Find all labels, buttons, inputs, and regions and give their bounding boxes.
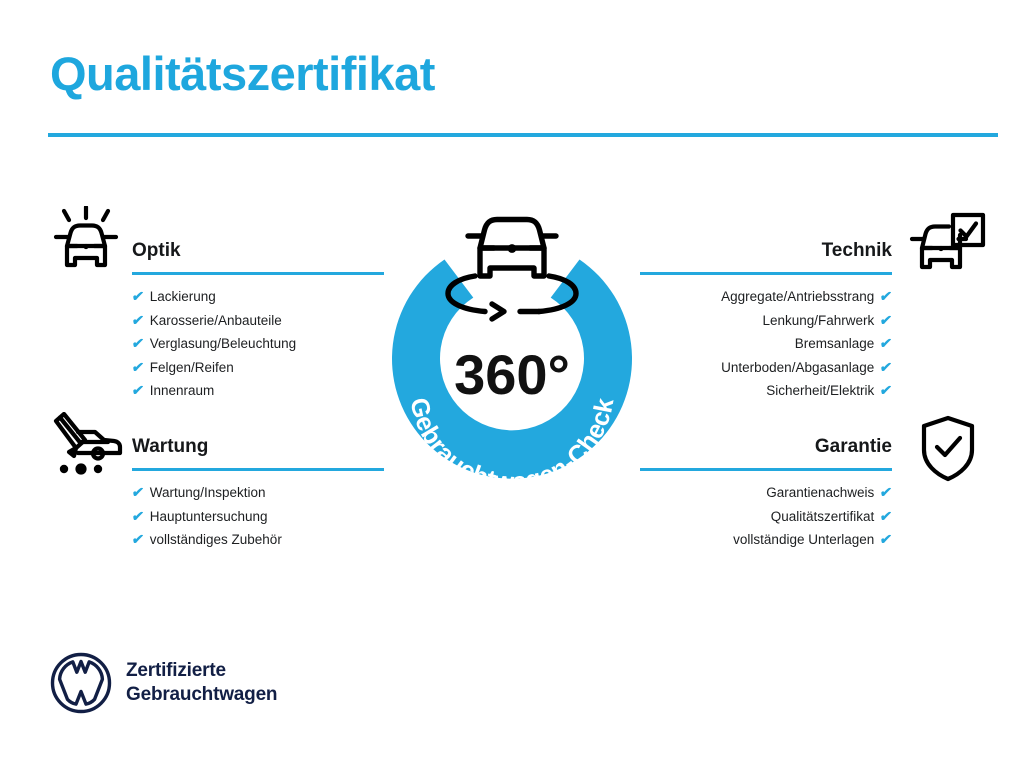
vw-certified-used-cars-lockup: Zertifizierte Gebrauchtwagen	[50, 648, 277, 718]
section-title-optik: Optik	[132, 236, 384, 266]
certificate-page: Qualitätszertifikat	[0, 0, 1024, 768]
page-title: Qualitätszertifikat	[50, 48, 435, 100]
checklist-item: vollständige Unterlagen✔	[640, 528, 892, 552]
checklist-item-label: Unterboden/Abgasanlage	[721, 356, 874, 380]
checklist-garantie: Garantienachweis✔Qualitätszertifikat✔vol…	[640, 474, 892, 552]
check-icon: ✔	[130, 285, 145, 309]
check-icon: ✔	[879, 309, 894, 333]
section-divider-optik	[132, 272, 384, 275]
360-gebrauchtwagen-check-badge: Gebrauchtwagen-Check 360°	[372, 192, 652, 504]
section-wartung: Wartung✔Wartung/Inspektion✔Hauptuntersuc…	[132, 432, 384, 552]
section-divider-technik	[640, 272, 892, 275]
checklist-item-label: vollständige Unterlagen	[733, 528, 874, 552]
checklist-item-label: Verglasung/Beleuchtung	[150, 332, 296, 356]
checklist-item-label: vollständiges Zubehör	[150, 528, 282, 552]
check-icon: ✔	[879, 505, 894, 529]
check-icon: ✔	[130, 379, 145, 403]
lockup-line-1: Zertifizierte	[126, 659, 277, 683]
checklist-item: ✔Innenraum	[132, 379, 384, 403]
check-icon: ✔	[879, 356, 894, 380]
checklist-item-label: Hauptuntersuchung	[150, 505, 268, 529]
checklist-technik: Aggregate/Antriebsstrang✔Lenkung/Fahrwer…	[640, 278, 892, 403]
title-divider	[48, 133, 998, 137]
checklist-item: Unterboden/Abgasanlage✔	[640, 356, 892, 380]
section-garantie: GarantieGarantienachweis✔Qualitätszertif…	[640, 432, 892, 552]
checklist-item-label: Qualitätszertifikat	[771, 505, 875, 529]
section-header-optik: Optik	[132, 236, 384, 278]
checklist-item: ✔Hauptuntersuchung	[132, 505, 384, 529]
checklist-item: Qualitätszertifikat✔	[640, 505, 892, 529]
section-header-garantie: Garantie	[640, 432, 892, 474]
pencil-car-service-icon	[48, 412, 124, 478]
checklist-item-label: Aggregate/Antriebsstrang	[721, 285, 874, 309]
section-divider-garantie	[640, 468, 892, 471]
section-title-technik: Technik	[640, 236, 892, 266]
checklist-item: Garantienachweis✔	[640, 481, 892, 505]
badge-value: 360°	[454, 343, 570, 406]
checklist-item: ✔Karosserie/Anbauteile	[132, 309, 384, 333]
section-title-garantie: Garantie	[640, 432, 892, 462]
section-title-wartung: Wartung	[132, 432, 384, 462]
check-icon: ✔	[879, 285, 894, 309]
car-front-shine-icon	[48, 206, 124, 276]
checklist-item-label: Lenkung/Fahrwerk	[762, 309, 874, 333]
checklist-item: ✔Wartung/Inspektion	[132, 481, 384, 505]
check-icon: ✔	[130, 528, 145, 552]
check-icon: ✔	[879, 528, 894, 552]
checklist-item-label: Lackierung	[150, 285, 216, 309]
checklist-optik: ✔Lackierung✔Karosserie/Anbauteile✔Vergla…	[132, 278, 384, 403]
checklist-item: Sicherheit/Elektrik✔	[640, 379, 892, 403]
checklist-item: ✔Lackierung	[132, 285, 384, 309]
check-icon: ✔	[130, 481, 145, 505]
check-icon: ✔	[130, 356, 145, 380]
checklist-item-label: Innenraum	[150, 379, 215, 403]
checklist-wartung: ✔Wartung/Inspektion✔Hauptuntersuchung✔vo…	[132, 474, 384, 552]
checklist-item: Bremsanlage✔	[640, 332, 892, 356]
section-header-technik: Technik	[640, 236, 892, 278]
lockup-line-2: Gebrauchtwagen	[126, 683, 277, 707]
section-divider-wartung	[132, 468, 384, 471]
checklist-item: Aggregate/Antriebsstrang✔	[640, 285, 892, 309]
check-icon: ✔	[879, 332, 894, 356]
check-icon: ✔	[130, 332, 145, 356]
checklist-item: ✔Verglasung/Beleuchtung	[132, 332, 384, 356]
checklist-item-label: Wartung/Inspektion	[150, 481, 266, 505]
checklist-item-label: Garantienachweis	[766, 481, 874, 505]
vw-roundel-logo	[50, 652, 112, 714]
section-technik: TechnikAggregate/Antriebsstrang✔Lenkung/…	[640, 236, 892, 403]
checklist-item: ✔Felgen/Reifen	[132, 356, 384, 380]
checklist-item-label: Karosserie/Anbauteile	[150, 309, 282, 333]
checklist-item-label: Sicherheit/Elektrik	[766, 379, 874, 403]
car-rotation-360-icon	[448, 220, 576, 320]
section-header-wartung: Wartung	[132, 432, 384, 474]
checklist-item-label: Bremsanlage	[795, 332, 875, 356]
check-icon: ✔	[879, 481, 894, 505]
checklist-item-label: Felgen/Reifen	[150, 356, 234, 380]
check-icon: ✔	[879, 379, 894, 403]
check-icon: ✔	[130, 505, 145, 529]
check-icon: ✔	[130, 309, 145, 333]
shield-check-icon	[918, 414, 978, 482]
car-front-checkbox-icon	[908, 212, 986, 274]
checklist-item: Lenkung/Fahrwerk✔	[640, 309, 892, 333]
checklist-item: ✔vollständiges Zubehör	[132, 528, 384, 552]
section-optik: Optik✔Lackierung✔Karosserie/Anbauteile✔V…	[132, 236, 384, 403]
